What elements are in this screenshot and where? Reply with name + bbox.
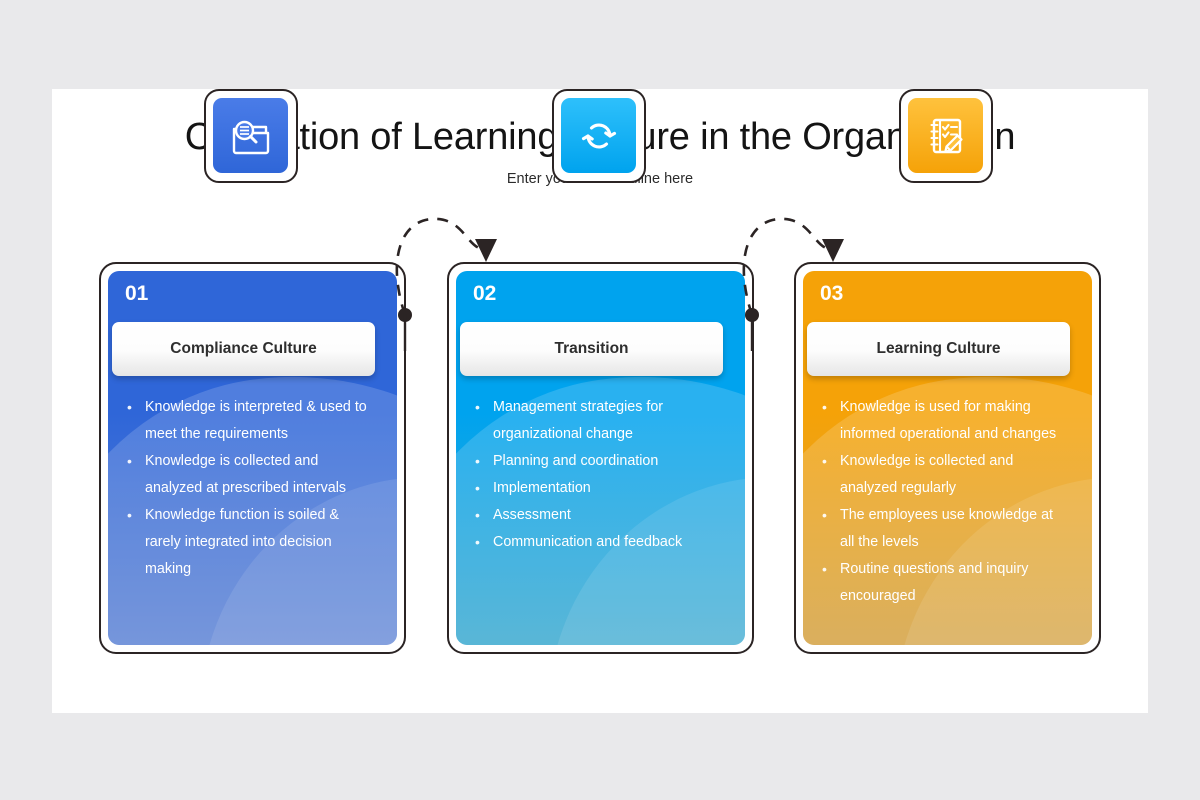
- list-item: The employees use knowledge at all the l…: [820, 502, 1068, 556]
- card-compliance-culture[interactable]: 01 Compliance Culture Knowledge is inter…: [99, 262, 411, 659]
- card-title-ribbon: Learning Culture: [807, 322, 1070, 376]
- folder-search-icon: [228, 113, 274, 159]
- icon-badge-inner: [908, 98, 983, 173]
- card-bullet-list: Management strategies for organizational…: [473, 394, 721, 556]
- slide-canvas: Cultivation of Learning Culture in the O…: [52, 89, 1148, 713]
- card-number: 02: [473, 282, 496, 306]
- list-item: Knowledge is interpreted & used to meet …: [125, 394, 373, 448]
- card-title: Compliance Culture: [170, 340, 316, 358]
- card-learning-culture[interactable]: 03 Learning Culture Knowledge is used fo…: [794, 262, 1106, 659]
- card-bullet-list: Knowledge is used for making informed op…: [820, 394, 1068, 610]
- list-item: Knowledge is collected and analyzed regu…: [820, 448, 1068, 502]
- icon-badge-inner: [213, 98, 288, 173]
- list-item: Routine questions and inquiry encouraged: [820, 556, 1068, 610]
- card-number: 03: [820, 282, 843, 306]
- list-item: Implementation: [473, 475, 721, 502]
- card-bullet-list: Knowledge is interpreted & used to meet …: [125, 394, 373, 583]
- icon-badge-2[interactable]: [552, 89, 646, 183]
- list-item: Planning and coordination: [473, 448, 721, 475]
- card-title-ribbon: Transition: [460, 322, 723, 376]
- list-item: Communication and feedback: [473, 529, 721, 556]
- card-title-ribbon: Compliance Culture: [112, 322, 375, 376]
- list-item: Knowledge is collected and analyzed at p…: [125, 448, 373, 502]
- card-number: 01: [125, 282, 148, 306]
- icon-badge-inner: [561, 98, 636, 173]
- list-item: Assessment: [473, 502, 721, 529]
- list-item: Knowledge function is soiled & rarely in…: [125, 502, 373, 583]
- card-title: Learning Culture: [876, 340, 1000, 358]
- list-item: Management strategies for organizational…: [473, 394, 721, 448]
- icon-badge-3[interactable]: [899, 89, 993, 183]
- refresh-sync-icon: [576, 113, 622, 159]
- card-title: Transition: [554, 340, 628, 358]
- notebook-checklist-pencil-icon: [923, 113, 969, 159]
- icon-badge-1[interactable]: [204, 89, 298, 183]
- card-transition[interactable]: 02 Transition Management strategies for …: [447, 262, 759, 659]
- list-item: Knowledge is used for making informed op…: [820, 394, 1068, 448]
